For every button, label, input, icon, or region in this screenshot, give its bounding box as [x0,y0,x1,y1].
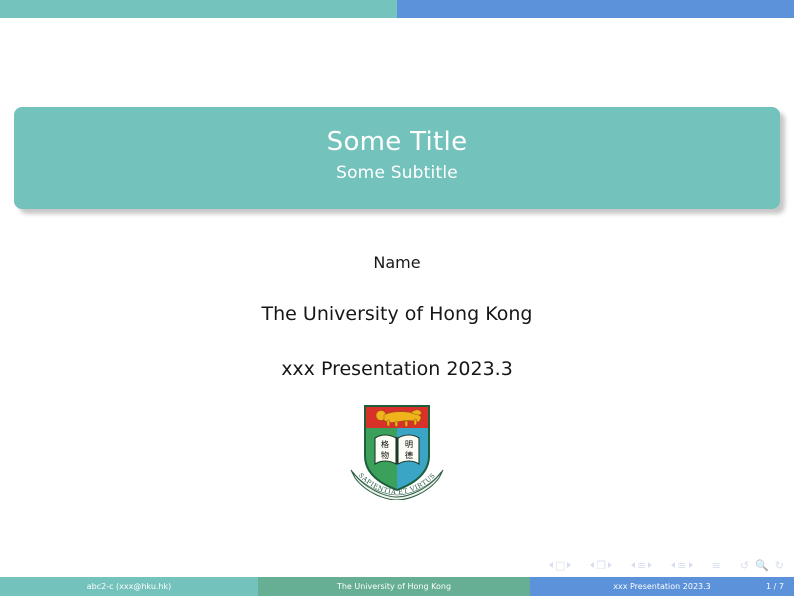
section-icon[interactable]: ≡ [677,560,686,571]
author-name: Name [0,253,794,272]
top-bar-left-segment [0,0,397,18]
footer-institute: The University of Hong Kong [258,577,530,596]
frame-icon[interactable]: ❐ [596,560,606,571]
next-frame-arrow-icon[interactable] [608,562,612,568]
prev-slide-arrow-icon[interactable] [549,562,553,568]
search-icon[interactable]: 🔍 [755,560,769,571]
next-slide-arrow-icon[interactable] [567,562,571,568]
beamer-navigation-bar[interactable]: □ ❐ ≡ ≡ ≡ ↺ 🔍 ↻ [549,556,784,574]
slide-icon[interactable]: □ [555,560,565,571]
presentation-date: xxx Presentation 2023.3 [0,358,794,380]
top-decoration-bar [0,0,794,18]
institute-name: The University of Hong Kong [0,303,794,325]
crest-char-de: 德 [405,450,413,460]
slide-footer: abc2-c (xxx@hku.hk) The University of Ho… [0,577,794,596]
document-icon[interactable]: ≡ [712,560,721,571]
prev-subsection-arrow-icon[interactable] [631,562,635,568]
prev-frame-arrow-icon[interactable] [590,562,594,568]
footer-page-number: 1 / 7 [766,582,784,591]
hku-crest-icon: 格 物 明 德 SAPIENTIA ET VIRTUS [347,398,447,500]
footer-right-section: xxx Presentation 2023.3 1 / 7 [530,577,794,596]
title-block: Some Title Some Subtitle [14,107,780,209]
crest-char-ge: 格 [381,439,389,449]
forward-icon[interactable]: ↻ [775,560,784,571]
footer-author: abc2-c (xxx@hku.hk) [0,577,258,596]
next-section-arrow-icon[interactable] [689,562,693,568]
presentation-title: Some Title [327,128,468,158]
frame-nav-group[interactable]: ❐ [590,560,612,571]
back-icon[interactable]: ↺ [740,560,749,571]
top-bar-right-segment [397,0,794,18]
crest-char-wu: 物 [381,450,389,460]
crest-char-ming: 明 [405,439,413,449]
presentation-subtitle: Some Subtitle [336,164,458,184]
subsection-nav-group[interactable]: ≡ [631,560,652,571]
subsection-icon[interactable]: ≡ [637,560,646,571]
section-nav-group[interactable]: ≡ [671,560,692,571]
slide-nav-group[interactable]: □ [549,560,571,571]
prev-section-arrow-icon[interactable] [671,562,675,568]
footer-date: xxx Presentation 2023.3 [558,582,766,591]
next-subsection-arrow-icon[interactable] [648,562,652,568]
